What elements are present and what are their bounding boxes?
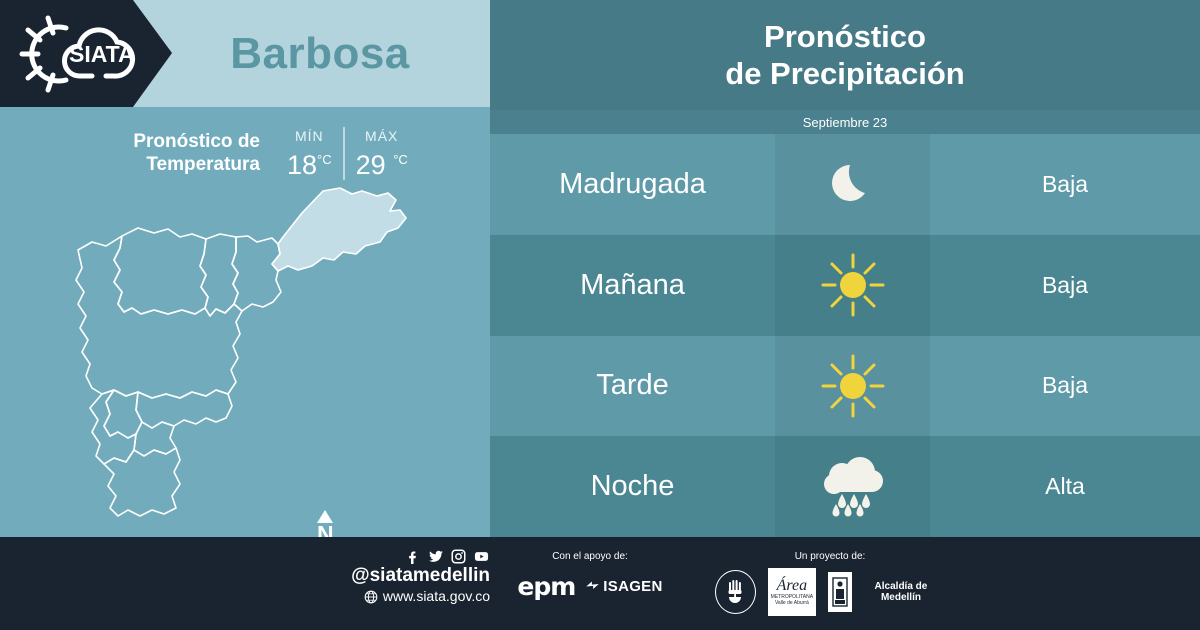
min-label: MÍN bbox=[287, 127, 332, 145]
map-region-barbosa bbox=[272, 188, 406, 271]
alcaldia-logo: Alcaldía de Medellín bbox=[828, 572, 945, 612]
moon-icon bbox=[824, 155, 882, 213]
alcaldia-text: Alcaldía de Medellín bbox=[857, 581, 945, 603]
forecast-title: Pronóstico de Precipitación bbox=[725, 18, 964, 92]
weather-forecast-poster: Barbosa SIATA Pronóstico de Temperatur bbox=[0, 0, 1200, 630]
precipitation-level: Baja bbox=[930, 235, 1200, 336]
sun-icon bbox=[820, 353, 886, 419]
sun-icon bbox=[820, 252, 886, 318]
forecast-row-tarde: Tarde bbox=[490, 336, 1200, 437]
rain-cloud-icon bbox=[818, 456, 888, 518]
map-region-envigado bbox=[136, 390, 232, 428]
footer: @siatamedellin www.siata.gov.co Con el a… bbox=[0, 537, 1200, 630]
temperature-title: Pronóstico de Temperatura bbox=[90, 130, 260, 176]
epm-logo: epm bbox=[517, 572, 575, 601]
min-value-wrap: 18°C bbox=[287, 145, 332, 180]
period-label: Noche bbox=[490, 436, 775, 537]
max-label: MÁX bbox=[356, 127, 408, 145]
globe-icon bbox=[364, 590, 378, 604]
twitter-icon[interactable] bbox=[428, 549, 444, 564]
support-block: Con el apoyo de: epm ISAGEN bbox=[510, 551, 670, 601]
isagen-text: ISAGEN bbox=[603, 578, 662, 595]
map-region-bello bbox=[114, 228, 208, 314]
period-label: Tarde bbox=[490, 336, 775, 437]
project-block: Un proyecto de: bbox=[715, 551, 945, 616]
area-line3: Valle de Aburrá bbox=[775, 600, 809, 606]
page-title: Barbosa bbox=[150, 0, 490, 107]
forecast-row-noche: Noche bbox=[490, 436, 1200, 537]
alcaldia-crest-icon bbox=[828, 572, 852, 612]
right-panel: Pronóstico de Precipitación Septiembre 2… bbox=[490, 0, 1200, 537]
weather-icon-cell bbox=[775, 336, 930, 437]
precipitation-level: Baja bbox=[930, 134, 1200, 235]
support-logos: epm ISAGEN bbox=[510, 572, 670, 601]
temperature-max: MÁX 29 °C bbox=[343, 127, 419, 180]
temperature-block: Pronóstico de Temperatura MÍN 18°C MÁX 2… bbox=[90, 124, 420, 182]
area-script: Área bbox=[777, 578, 808, 594]
temperature-min: MÍN 18°C bbox=[276, 127, 343, 180]
facebook-icon[interactable] bbox=[406, 549, 421, 564]
temperature-title-line2: Temperatura bbox=[90, 153, 260, 176]
forecast-row-manana: Mañana bbox=[490, 235, 1200, 336]
forecast-rows: Madrugada Baja Mañana bbox=[490, 134, 1200, 537]
crest-figure-icon bbox=[831, 576, 849, 608]
website-url: www.siata.gov.co bbox=[383, 587, 490, 606]
seal-hand-icon bbox=[720, 577, 750, 607]
youtube-icon[interactable] bbox=[473, 549, 490, 564]
min-value: 18 bbox=[287, 150, 317, 180]
map-region-medellin bbox=[76, 236, 242, 398]
website-row[interactable]: www.siata.gov.co bbox=[330, 587, 490, 606]
weather-icon-cell bbox=[775, 235, 930, 336]
area-metropolitana-logo: Área METROPOLITANA Valle de Aburrá bbox=[768, 568, 816, 616]
precipitation-level: Baja bbox=[930, 336, 1200, 437]
social-handle[interactable]: @siatamedellin bbox=[330, 565, 490, 587]
period-label: Madrugada bbox=[490, 134, 775, 235]
project-caption: Un proyecto de: bbox=[715, 551, 945, 562]
instagram-icon[interactable] bbox=[451, 549, 466, 564]
weather-icon-cell bbox=[775, 134, 930, 235]
weather-icon-cell bbox=[775, 436, 930, 537]
social-icons bbox=[330, 549, 490, 564]
support-caption: Con el apoyo de: bbox=[510, 551, 670, 562]
forecast-row-madrugada: Madrugada Baja bbox=[490, 134, 1200, 235]
isagen-mark-icon bbox=[585, 579, 600, 594]
forecast-date: Septiembre 23 bbox=[490, 110, 1200, 134]
logo-text: SIATA bbox=[69, 41, 135, 67]
left-panel: Barbosa SIATA Pronóstico de Temperatur bbox=[0, 0, 490, 537]
precipitation-header: Pronóstico de Precipitación bbox=[490, 0, 1200, 110]
period-label: Mañana bbox=[490, 235, 775, 336]
max-value: 29 bbox=[356, 150, 386, 180]
temperature-title-line1: Pronóstico de bbox=[90, 130, 260, 153]
map-svg bbox=[40, 180, 460, 530]
social-block: @siatamedellin www.siata.gov.co bbox=[330, 549, 490, 606]
medellin-seal-icon bbox=[715, 570, 756, 614]
max-unit: °C bbox=[393, 152, 408, 167]
map-region-caldas bbox=[104, 448, 180, 516]
min-unit: °C bbox=[317, 152, 332, 167]
project-logos: Área METROPOLITANA Valle de Aburrá bbox=[715, 568, 945, 616]
max-value-wrap: 29 °C bbox=[356, 145, 408, 180]
isagen-logo: ISAGEN bbox=[585, 578, 662, 595]
forecast-title-line2: de Precipitación bbox=[725, 55, 964, 92]
map-region-girardota bbox=[232, 236, 281, 311]
aburra-valley-map: N bbox=[40, 180, 460, 530]
sun-cloud-icon: SIATA bbox=[14, 12, 154, 96]
map-region-la-estrella bbox=[90, 390, 136, 464]
temperature-values: MÍN 18°C MÁX 29 °C bbox=[276, 127, 419, 180]
precipitation-level: Alta bbox=[930, 436, 1200, 537]
forecast-title-line1: Pronóstico bbox=[725, 18, 964, 55]
